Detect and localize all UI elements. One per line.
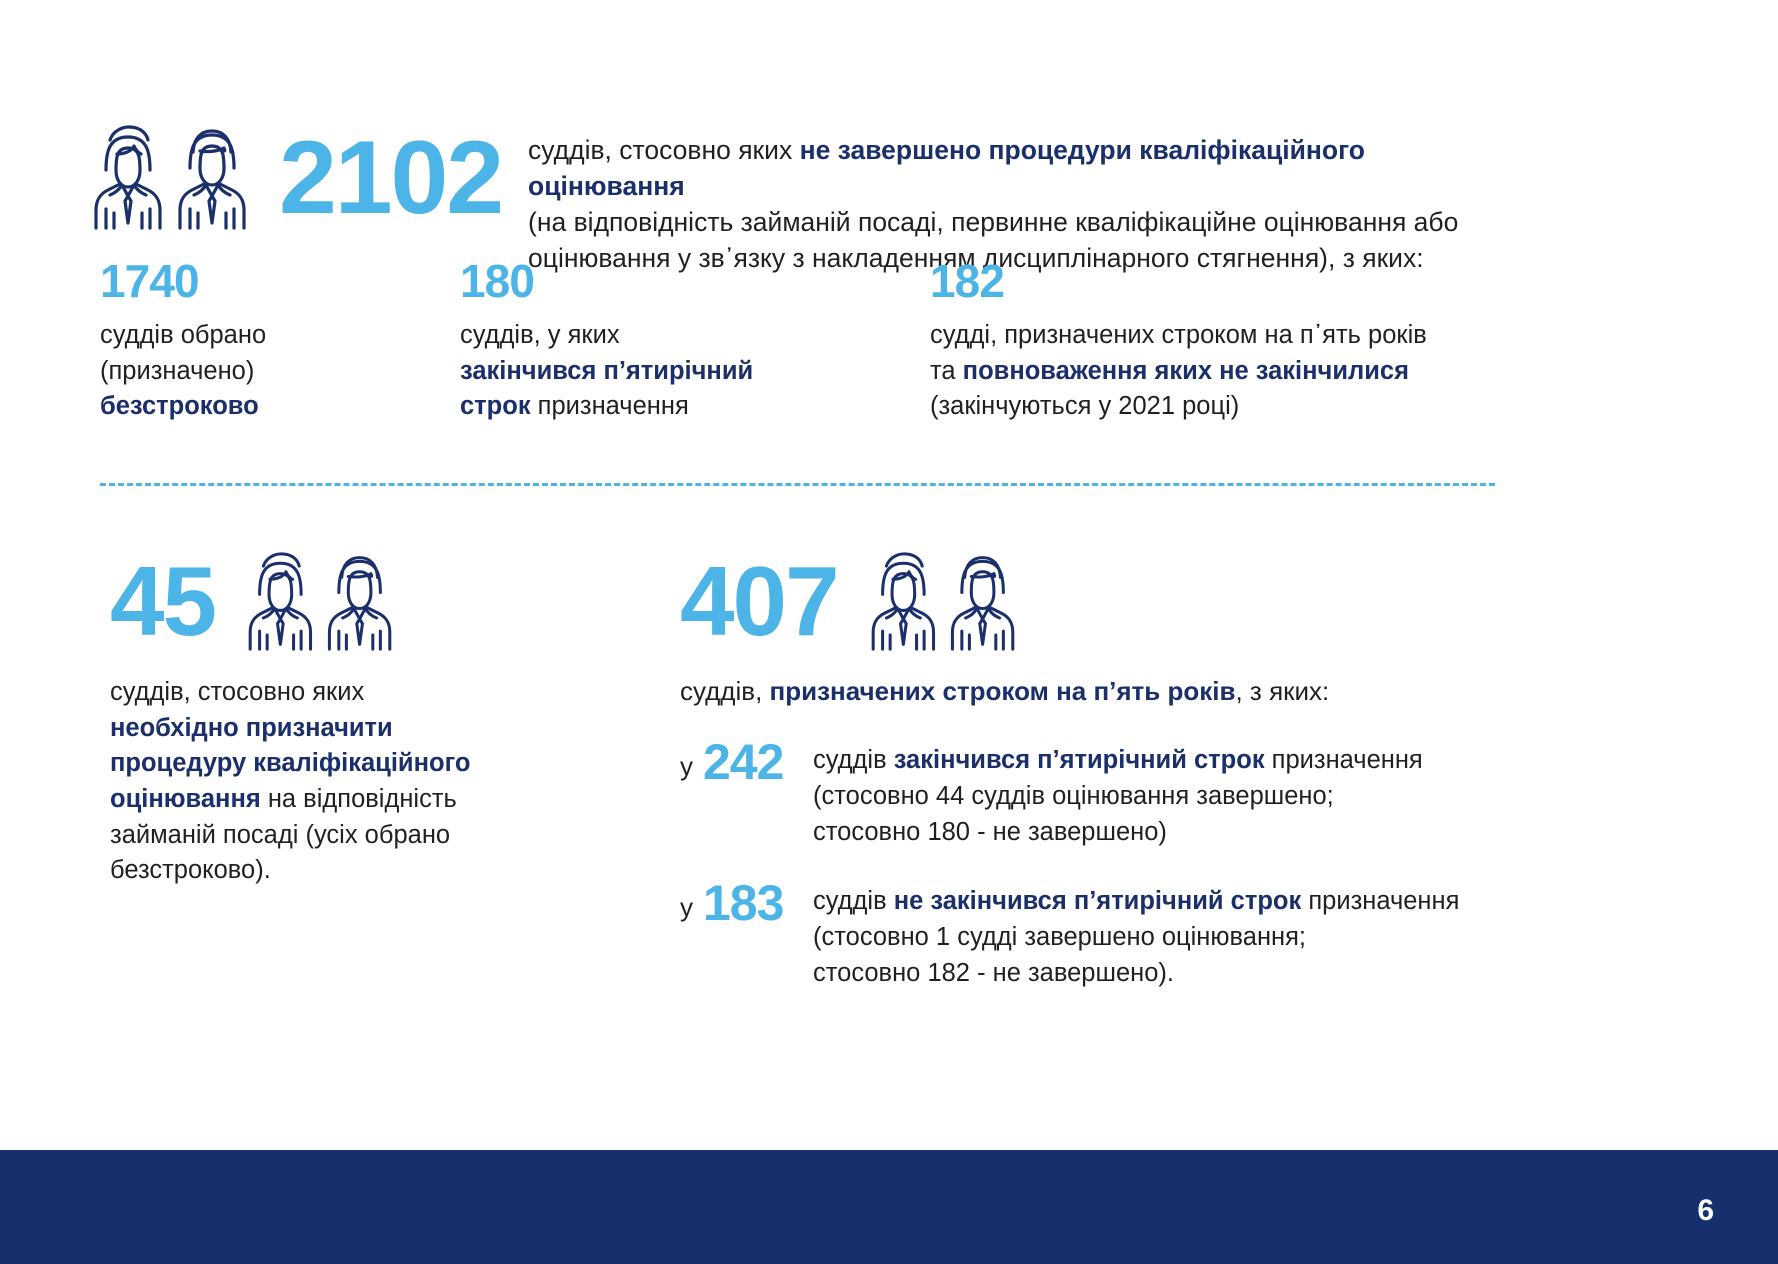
block-45-bold-3: оцінювання	[110, 785, 261, 813]
stat-182-line-3: (закінчуються у 2021 році)	[930, 392, 1239, 420]
block-45-line-4: займаній посаді (усіх обрано	[110, 821, 450, 849]
item-183-text: суддів не закінчився п’ятирічний строк п…	[813, 876, 1560, 991]
block-45-header: 45	[110, 548, 590, 653]
judges-icon-pair-45-svg	[233, 551, 423, 651]
stat-1740-line-2: (призначено)	[100, 357, 254, 385]
stat-column-182: 182 судді, призначених строком на п᾿ять …	[930, 258, 1550, 425]
item-242-plain-1: суддів	[813, 746, 894, 774]
stat-180-line-3-bold: строк	[460, 392, 531, 420]
stat-column-1740: 1740 суддів обрано (призначено) безстрок…	[100, 258, 430, 425]
page-number: 6	[1697, 1194, 1714, 1228]
judges-icon-pair-svg	[86, 124, 271, 230]
stat-text-180: суддів, у яких закінчився п’ятирічний ст…	[460, 318, 980, 425]
item-242-note-2: стосовно 180 - не завершено)	[813, 818, 1167, 846]
stat-1740-line-1: суддів обрано	[100, 321, 266, 349]
block-45-line-5: безстроково).	[110, 856, 271, 884]
stat-180-line-3-plain: призначення	[531, 392, 689, 420]
stat-number-182: 182	[930, 258, 1550, 304]
block-45-text: суддів, стосовно яких необхідно призначи…	[110, 675, 510, 889]
item-242-plain-2: призначення	[1265, 746, 1423, 774]
block-407: 407	[680, 548, 1560, 992]
block-407-item-183: у 183 суддів не закінчився п’ятирічний с…	[680, 876, 1560, 991]
item-183-note-1: (стосовно 1 судді завершено оцінювання;	[813, 923, 1306, 951]
stat-number-407: 407	[680, 552, 838, 650]
stat-1740-line-3-bold: безстроково	[100, 392, 259, 420]
stat-180-line-1: суддів, у яких	[460, 321, 620, 349]
block-407-lead-plain-2: , з яких:	[1235, 676, 1329, 706]
stat-180-line-2-bold: закінчився п’ятирічний	[460, 357, 753, 385]
top-summary-row: 2102 суддів, стосовно яких не завершено …	[86, 118, 1493, 276]
stat-number-2102: 2102	[279, 118, 502, 230]
dashed-divider	[100, 483, 1495, 486]
judges-icon-pair-407-svg	[856, 551, 1046, 651]
item-183-bold: не закінчився п’ятирічний строк	[894, 887, 1302, 915]
stat-text-182: судді, призначених строком на п᾿ять рокі…	[930, 318, 1550, 425]
block-407-lead: суддів, призначених строком на п’ять рок…	[680, 673, 1560, 709]
item-183-plain-1: суддів	[813, 887, 894, 915]
block-45: 45	[110, 548, 590, 889]
top-text-line-2: (на відповідність займаній посаді, перви…	[528, 207, 1458, 237]
man-judge-icon	[180, 131, 244, 228]
man-judge-icon	[952, 557, 1012, 649]
item-183-plain-2: призначення	[1301, 887, 1459, 915]
block-45-bold-1: необхідно призначити	[110, 714, 393, 742]
block-45-bold-2: процедуру кваліфікаційного	[110, 749, 470, 777]
item-183-note-2: стосовно 182 - не завершено).	[813, 959, 1174, 987]
stat-text-1740: суддів обрано (призначено) безстроково	[100, 318, 430, 425]
item-242-text: суддів закінчився п’ятирічний строк приз…	[813, 735, 1560, 850]
footer-bar	[0, 1150, 1778, 1264]
block-407-header: 407	[680, 548, 1560, 653]
top-text-plain-1: суддів, стосовно яких	[528, 135, 800, 165]
infographic-page: 2102 суддів, стосовно яких не завершено …	[0, 0, 1778, 1264]
stat-number-1740: 1740	[100, 258, 430, 304]
woman-judge-icon	[96, 127, 160, 228]
stat-182-line-1: судді, призначених строком на п᾿ять рокі…	[930, 321, 1427, 349]
judges-icon-pair-top	[86, 118, 271, 234]
block-407-lead-plain-1: суддів,	[680, 676, 770, 706]
woman-judge-icon	[873, 553, 933, 648]
item-242-note-1: (стосовно 44 суддів оцінювання завершено…	[813, 782, 1334, 810]
man-judge-icon	[330, 557, 390, 649]
top-summary-text: суддів, стосовно яких не завершено проце…	[528, 118, 1493, 276]
stat-number-183: 183	[703, 876, 813, 928]
block-45-line-1: суддів, стосовно яких	[110, 678, 364, 706]
stat-182-line-2-plain: та	[930, 357, 963, 385]
judges-icon-pair-45	[233, 551, 423, 651]
stat-number-242: 242	[703, 735, 813, 787]
stat-number-45: 45	[110, 552, 215, 650]
block-45-tail-1: на відповідність	[261, 785, 457, 813]
block-407-item-242: у 242 суддів закінчився п’ятирічний стро…	[680, 735, 1560, 850]
block-407-lead-bold: призначених строком на п’ять років	[770, 676, 1236, 706]
woman-judge-icon	[250, 553, 310, 648]
item-242-prefix: у	[680, 735, 693, 782]
stat-number-180: 180	[460, 258, 980, 304]
item-183-prefix: у	[680, 876, 693, 923]
stat-column-180: 180 суддів, у яких закінчився п’ятирічни…	[460, 258, 980, 425]
item-242-bold: закінчився п’ятирічний строк	[894, 746, 1265, 774]
judges-icon-pair-407	[856, 551, 1046, 651]
stat-182-line-2-bold: повноваження яких не закінчилися	[963, 357, 1409, 385]
